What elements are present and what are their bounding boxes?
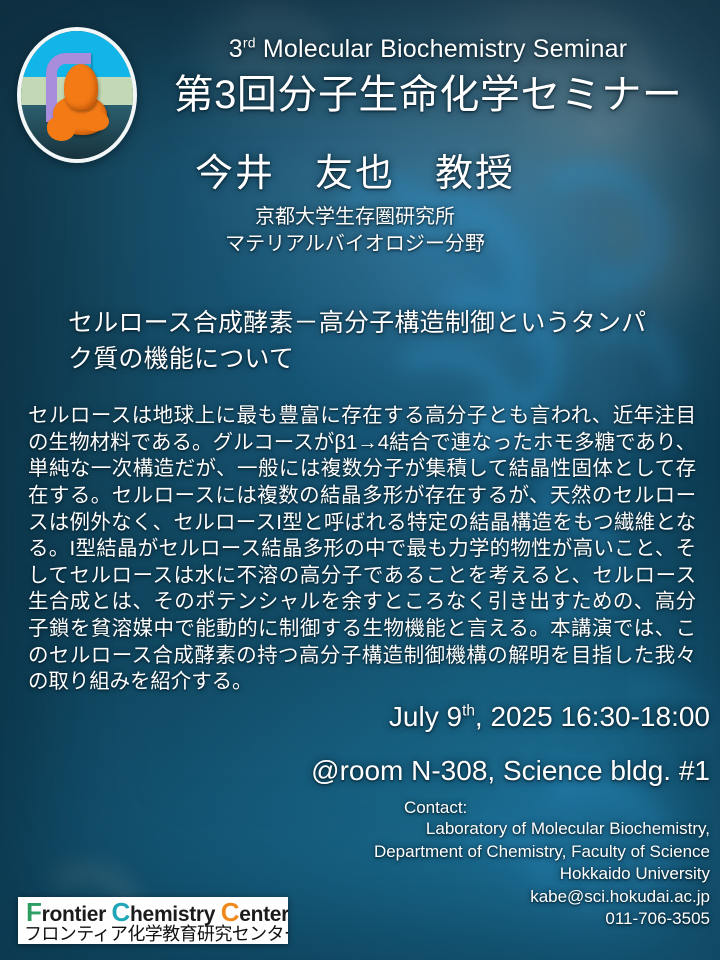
- seminar-title-japanese: 第3回分子生命化学セミナー: [148, 72, 708, 118]
- lab-logo-badge: [17, 27, 137, 163]
- badge-protein-foot-icon: [47, 117, 75, 141]
- fcc-logo-japanese: フロンティア化学教育研究センター: [24, 920, 288, 944]
- speaker-name: 今井 友也 教授: [120, 152, 590, 198]
- seminar-number: 3: [229, 35, 243, 63]
- seminar-number-ordinal: rd: [243, 35, 256, 51]
- speaker-block: 今井 友也 教授 京都大学生存圏研究所 マテリアルバイオロジー分野: [120, 152, 590, 258]
- speaker-affiliation: 京都大学生存圏研究所 マテリアルバイオロジー分野: [120, 204, 590, 258]
- talk-abstract: セルロースは地球上に最も豊富に存在する高分子とも言われ、近年注目の生物材料である…: [28, 403, 696, 696]
- contact-label: Contact:: [404, 798, 710, 818]
- event-datetime: July 9th, 2025 16:30-18:00: [311, 700, 710, 734]
- badge-protein-head-icon: [64, 64, 98, 110]
- contact-line-lab: Laboratory of Molecular Biochemistry,: [374, 818, 710, 841]
- frontier-chemistry-center-logo: Frontier Chemistry Center フロンティア化学教育研究セン…: [18, 897, 288, 944]
- talk-title: セルロース合成酵素－高分子構造制御というタンパク質の機能について: [68, 306, 668, 377]
- event-date-monthday: July 9: [389, 701, 462, 732]
- event-details: July 9th, 2025 16:30-18:00 @room N-308, …: [311, 700, 710, 787]
- event-date-rest: , 2025 16:30-18:00: [475, 701, 710, 732]
- poster-header: 3rd Molecular Biochemistry Seminar 第3回分子…: [148, 36, 708, 118]
- badge-protein-arm-icon: [83, 111, 109, 131]
- contact-phone: 011-706-3505: [374, 908, 710, 931]
- contact-block: Contact: Laboratory of Molecular Biochem…: [374, 798, 710, 931]
- contact-email[interactable]: kabe@sci.hokudai.ac.jp: [374, 886, 710, 909]
- seminar-title-english: 3rd Molecular Biochemistry Seminar: [148, 36, 708, 64]
- contact-line-university: Hokkaido University: [374, 863, 710, 886]
- event-venue: @room N-308, Science bldg. #1: [311, 754, 710, 788]
- event-date-ordinal: th: [462, 703, 475, 720]
- seminar-poster: 3rd Molecular Biochemistry Seminar 第3回分子…: [0, 0, 720, 960]
- contact-line-department: Department of Chemistry, Faculty of Scie…: [374, 841, 710, 864]
- seminar-title-english-rest: Molecular Biochemistry Seminar: [256, 35, 628, 63]
- speaker-affiliation-line-1: 京都大学生存圏研究所: [120, 204, 590, 231]
- speaker-affiliation-line-2: マテリアルバイオロジー分野: [120, 231, 590, 258]
